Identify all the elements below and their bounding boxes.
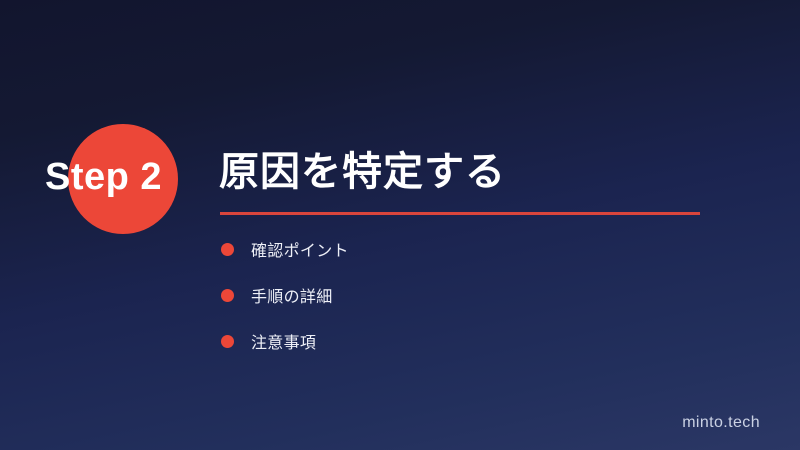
bullet-dot-icon xyxy=(221,335,234,348)
presentation-slide: Step 2 原因を特定する 確認ポイント 手順の詳細 注意事項 minto.t… xyxy=(0,0,800,450)
list-item: 確認ポイント xyxy=(221,238,691,260)
bullet-dot-icon xyxy=(221,243,234,256)
list-item-label: 注意事項 xyxy=(251,329,316,353)
title-divider xyxy=(220,212,700,215)
list-item: 手順の詳細 xyxy=(221,284,691,306)
footer-brand: minto.tech xyxy=(682,414,760,432)
list-item: 注意事項 xyxy=(221,330,691,352)
step-label: Step 2 xyxy=(45,155,162,199)
bullet-list: 確認ポイント 手順の詳細 注意事項 xyxy=(221,238,691,376)
list-item-label: 手順の詳細 xyxy=(251,283,333,307)
bullet-dot-icon xyxy=(221,289,234,302)
page-title: 原因を特定する xyxy=(219,148,506,196)
list-item-label: 確認ポイント xyxy=(251,237,349,261)
